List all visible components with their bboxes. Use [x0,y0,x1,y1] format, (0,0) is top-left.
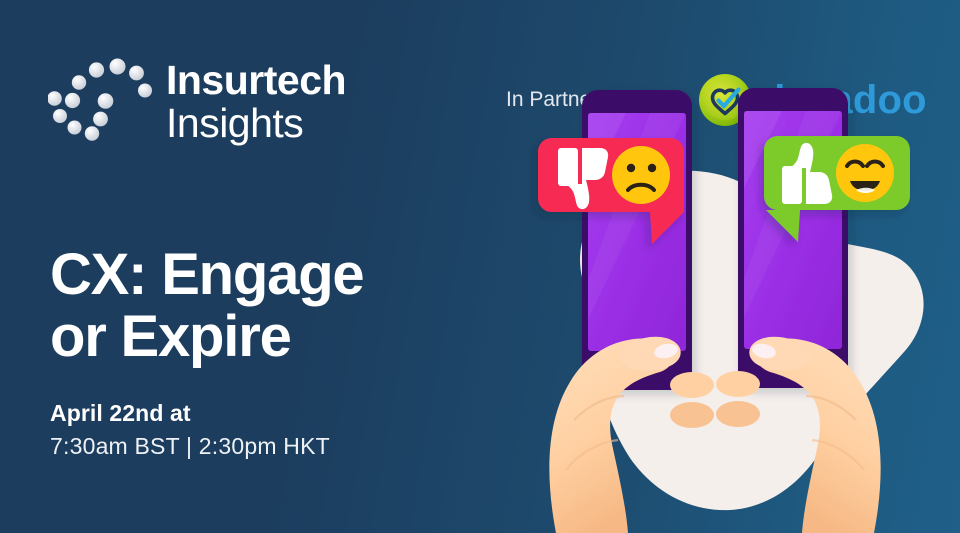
headline-line-1: CX: Engage [50,244,480,307]
event-time: 7:30am BST | 2:30pm HKT [50,433,450,460]
insurtech-insights-logo[interactable]: Insurtech Insights [48,55,348,150]
event-date: April 22nd at [50,400,450,427]
webinar-promo-banner: Insurtech Insights In Partnership with [0,0,960,533]
wordmark-line-insights: Insights [166,102,356,145]
event-details: April 22nd at 7:30am BST | 2:30pm HKT [50,400,450,460]
feedback-illustration [500,0,960,533]
page-title: CX: Engage or Expire [50,244,480,369]
headline-line-2: or Expire [50,306,480,369]
insurtech-insights-wordmark: Insurtech Insights [166,59,356,145]
sad-face-emoji [612,146,670,204]
happy-face-emoji [836,144,894,202]
insurtech-insights-dot-spiral-icon [48,57,158,147]
wordmark-line-insurtech: Insurtech [166,59,356,102]
